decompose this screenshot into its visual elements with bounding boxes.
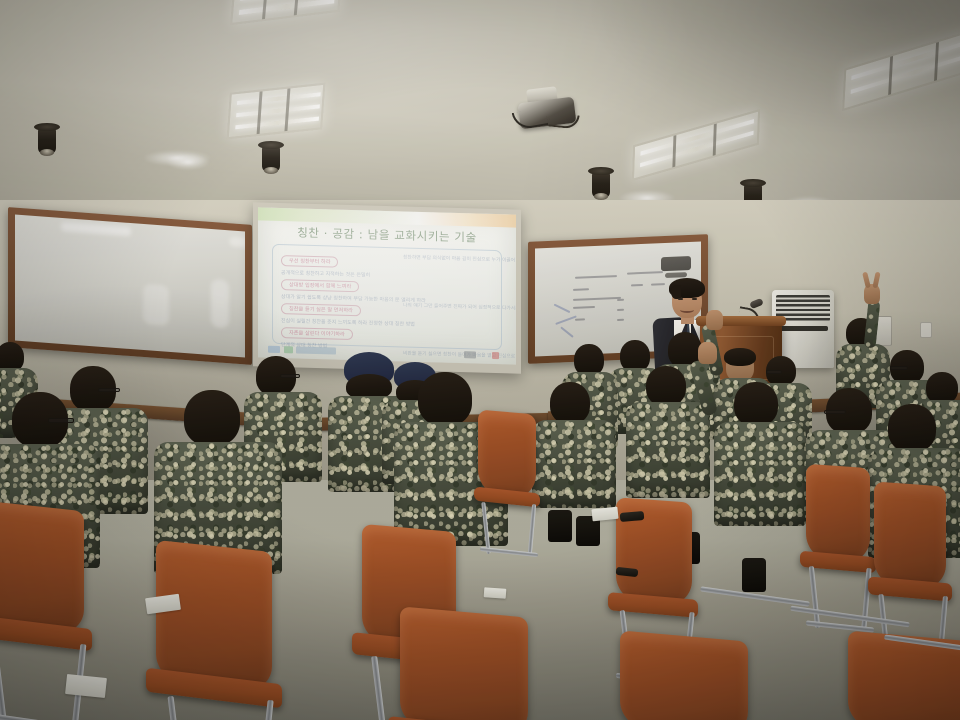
floor-paper [65,674,107,698]
presenter-eye [692,298,697,300]
classroom-scene: 칭찬 · 공감 : 남을 교화시키는 기술 우선 칭찬부터 하라 공개적으로 칭… [0,0,960,720]
eyeglasses [98,388,120,392]
eyeglasses [280,374,300,378]
mic-head [749,298,764,309]
raised-hand [698,342,717,364]
eyeglasses [890,366,908,370]
eyeglasses [48,418,74,423]
raised-hand [706,310,723,330]
floor-paper [484,587,507,599]
presenter-smile [680,307,694,313]
eyeglasses [766,370,782,374]
presenter-eye [678,298,683,300]
ceiling-shading [0,0,960,215]
eyeglasses [824,410,846,414]
presenter-hair [669,278,705,298]
